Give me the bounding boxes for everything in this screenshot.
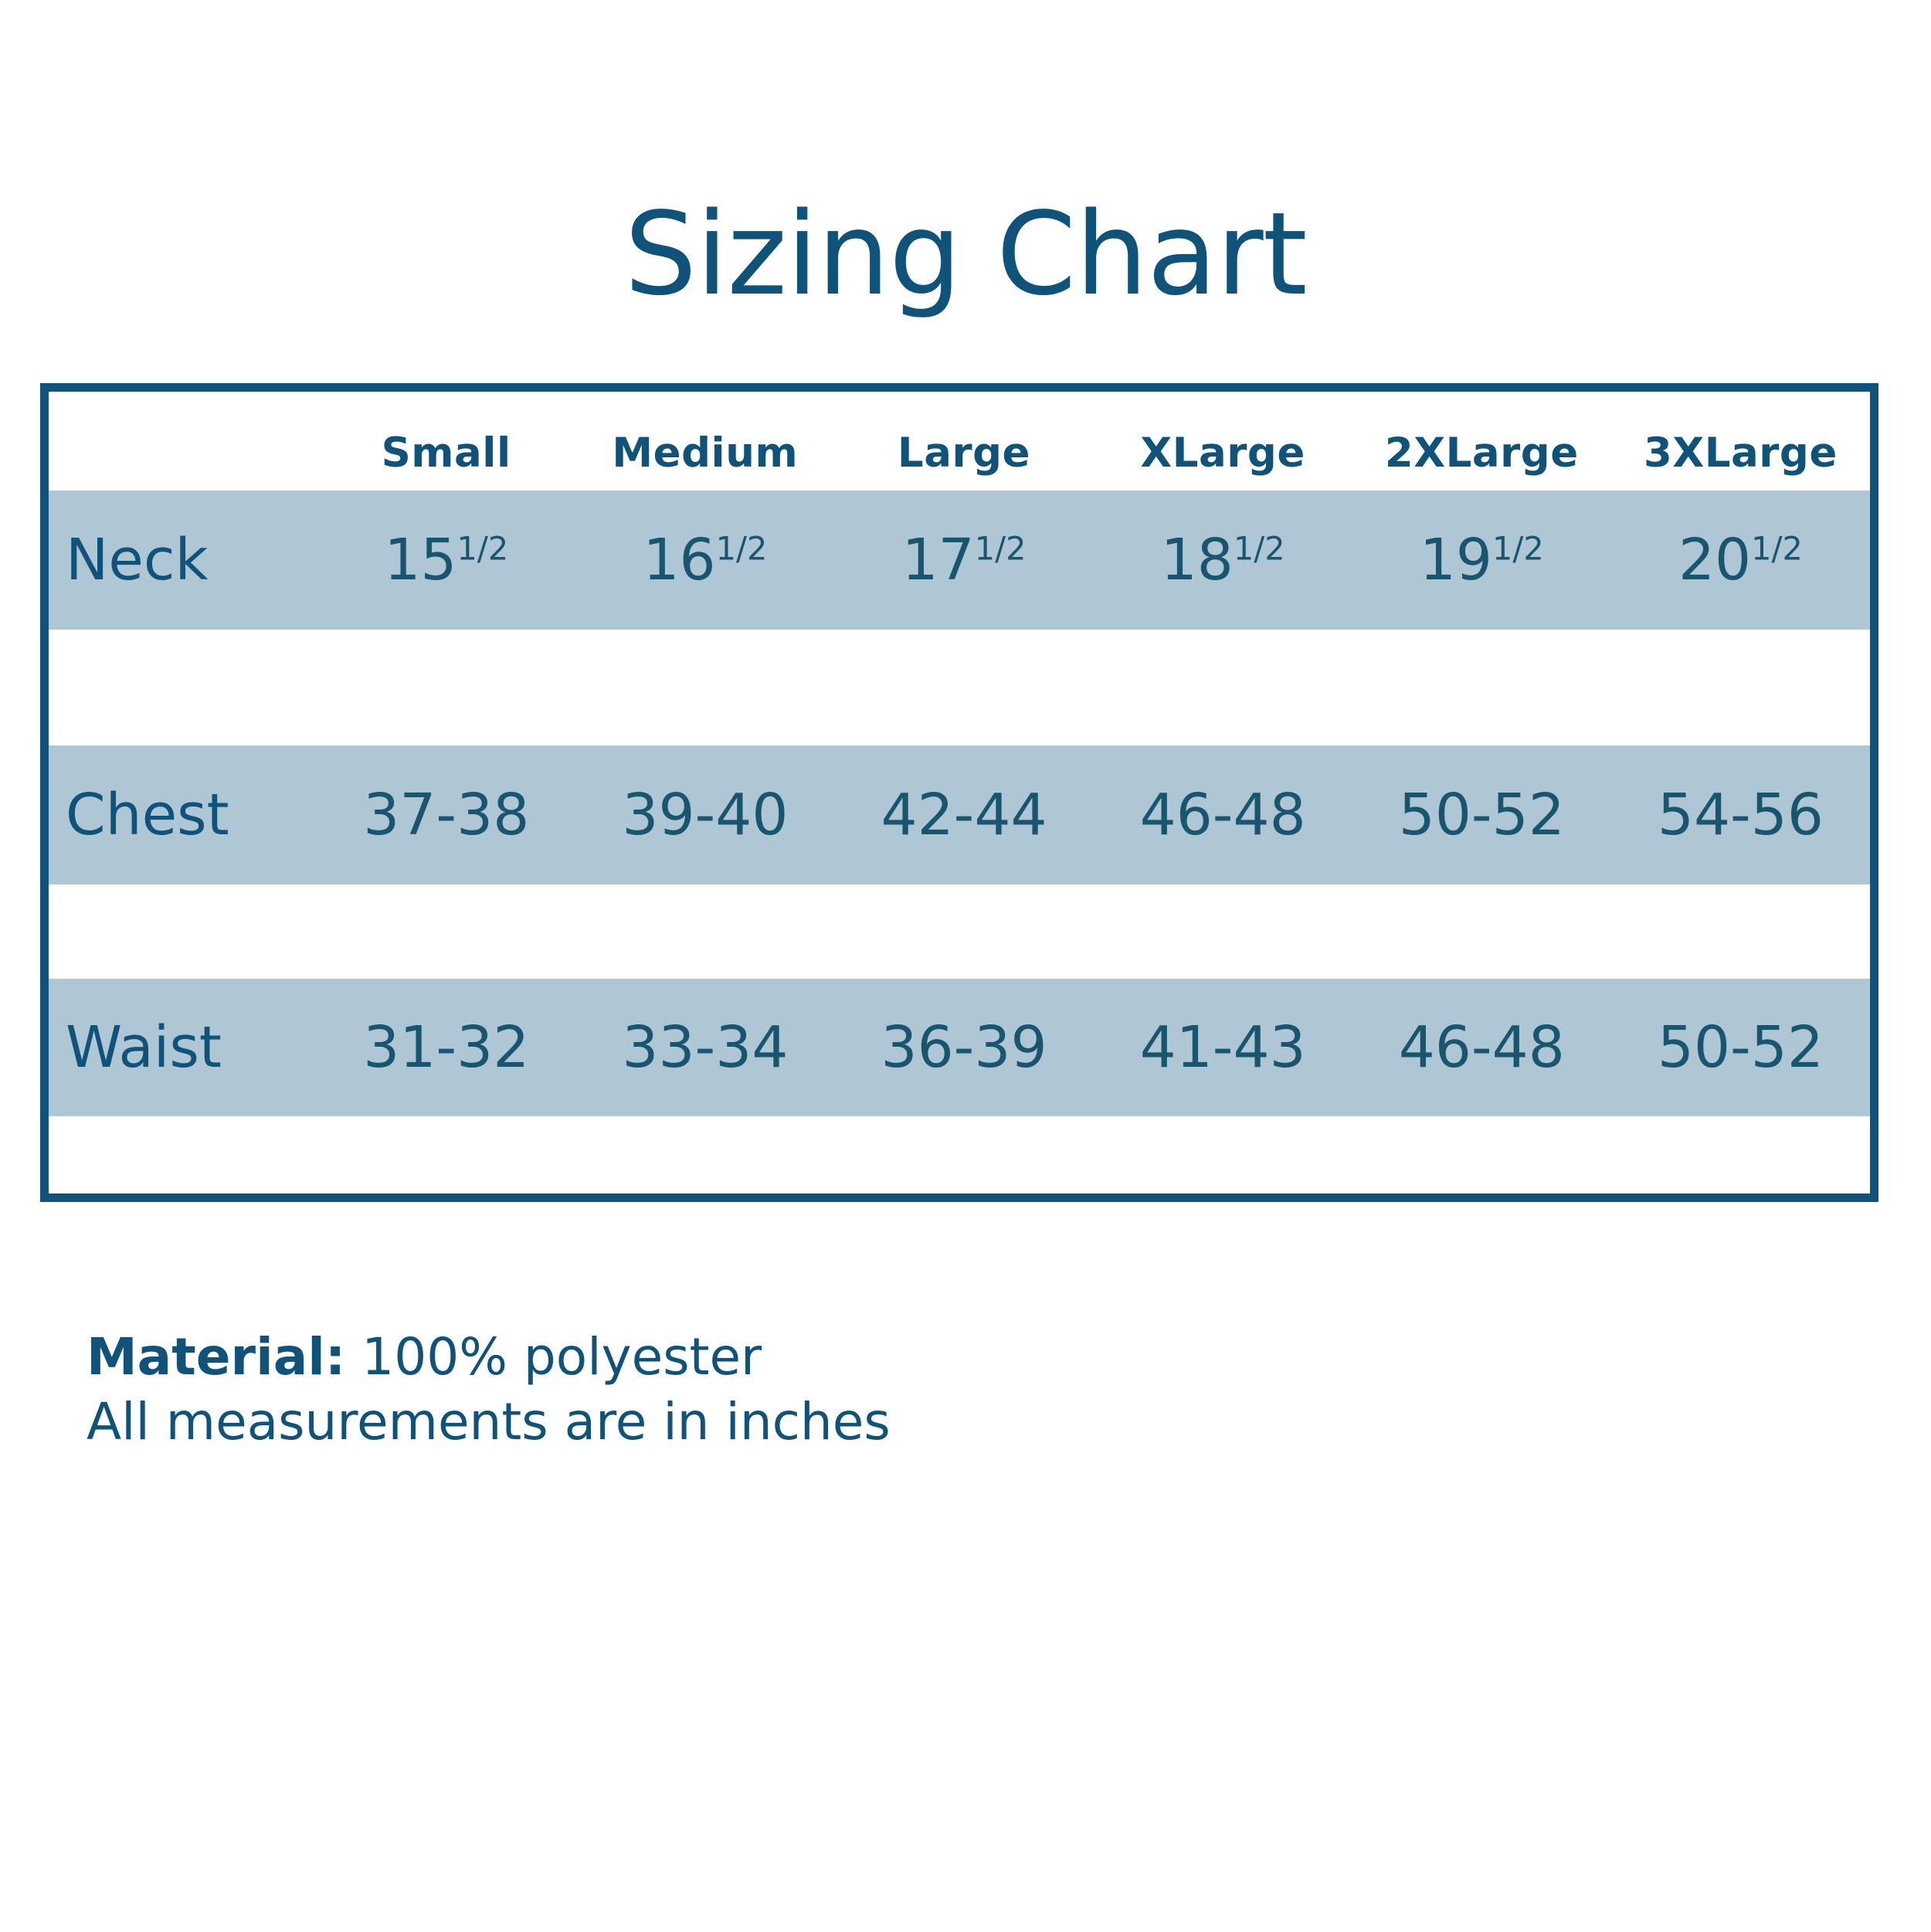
- cell-chest-large: 42-44: [834, 782, 1093, 848]
- value-whole: 36-39: [881, 1014, 1047, 1081]
- cell-chest-xlarge: 46-48: [1094, 782, 1352, 848]
- cell-neck-medium: 161/2: [575, 527, 834, 593]
- column-header-3xlarge: 3XLarge: [1611, 430, 1870, 477]
- value-fraction: 1/2: [1751, 530, 1803, 567]
- cell-chest-medium: 39-40: [575, 782, 834, 848]
- sizing-table: Small Medium Large XLarge 2XLarge 3XLarg…: [40, 383, 1878, 1202]
- value-fraction: 1/2: [975, 530, 1027, 567]
- cell-neck-small: 151/2: [317, 527, 575, 593]
- value-whole: 42-44: [881, 782, 1047, 848]
- cell-neck-3xlarge: 201/2: [1611, 527, 1870, 593]
- table-row: Neck 151/2 161/2 171/2 181/2 191/2 201/2: [49, 491, 1870, 630]
- value-whole: 39-40: [622, 782, 788, 848]
- material-note: Material: 100% polyester: [87, 1325, 1786, 1390]
- row-label-neck: Neck: [49, 527, 317, 593]
- cell-waist-3xlarge: 50-52: [1611, 1014, 1870, 1081]
- page-title: Sizing Chart: [0, 197, 1931, 311]
- cell-chest-small: 37-38: [317, 782, 575, 848]
- cell-neck-xlarge: 181/2: [1094, 527, 1352, 593]
- value-whole: 15: [384, 527, 456, 593]
- value-whole: 33-34: [622, 1014, 788, 1081]
- sizing-table-grid: Small Medium Large XLarge 2XLarge 3XLarg…: [49, 392, 1870, 1193]
- value-fraction: 1/2: [1492, 530, 1544, 567]
- cell-waist-medium: 33-34: [575, 1014, 834, 1081]
- cell-waist-small: 31-32: [317, 1014, 575, 1081]
- value-whole: 50-52: [1658, 1014, 1824, 1081]
- cell-waist-large: 36-39: [834, 1014, 1093, 1081]
- cell-waist-2xlarge: 46-48: [1352, 1014, 1611, 1081]
- value-fraction: 1/2: [716, 530, 768, 567]
- cell-chest-2xlarge: 50-52: [1352, 782, 1611, 848]
- value-whole: 37-38: [363, 782, 529, 848]
- table-row: Chest 37-38 39-40 42-44 46-48 50-52 54-5…: [49, 745, 1870, 885]
- value-whole: 41-43: [1140, 1014, 1306, 1081]
- column-header-xlarge: XLarge: [1094, 430, 1352, 477]
- value-whole: 20: [1678, 527, 1751, 593]
- footer-notes: Material: 100% polyester All measurement…: [87, 1325, 1786, 1455]
- cell-chest-3xlarge: 54-56: [1611, 782, 1870, 848]
- table-row: Waist 31-32 33-34 36-39 41-43 46-48 50-5…: [49, 979, 1870, 1116]
- row-label-waist: Waist: [49, 1014, 317, 1081]
- units-note: All measurements are in inches: [87, 1390, 1786, 1455]
- column-header-large: Large: [834, 430, 1093, 477]
- value-whole: 46-48: [1140, 782, 1306, 848]
- column-header-medium: Medium: [575, 430, 834, 477]
- value-whole: 31-32: [363, 1014, 529, 1081]
- cell-neck-2xlarge: 191/2: [1352, 527, 1611, 593]
- sizing-chart-page: Sizing Chart Small Medium Large XLarge 2…: [0, 0, 1931, 1932]
- sizing-table-inner: Small Medium Large XLarge 2XLarge 3XLarg…: [49, 392, 1870, 1193]
- material-value: 100% polyester: [361, 1327, 762, 1387]
- cell-neck-large: 171/2: [834, 527, 1093, 593]
- value-fraction: 1/2: [457, 530, 509, 567]
- table-header-row: Small Medium Large XLarge 2XLarge 3XLarg…: [49, 415, 1870, 491]
- column-header-small: Small: [317, 430, 575, 477]
- value-whole: 16: [643, 527, 715, 593]
- column-header-2xlarge: 2XLarge: [1352, 430, 1611, 477]
- value-whole: 19: [1420, 527, 1492, 593]
- value-whole: 54-56: [1658, 782, 1824, 848]
- value-whole: 17: [902, 527, 975, 593]
- material-label: Material:: [87, 1327, 345, 1387]
- cell-waist-xlarge: 41-43: [1094, 1014, 1352, 1081]
- value-whole: 50-52: [1399, 782, 1565, 848]
- value-fraction: 1/2: [1234, 530, 1285, 567]
- row-label-chest: Chest: [49, 782, 317, 848]
- value-whole: 18: [1161, 527, 1234, 593]
- value-whole: 46-48: [1399, 1014, 1565, 1081]
